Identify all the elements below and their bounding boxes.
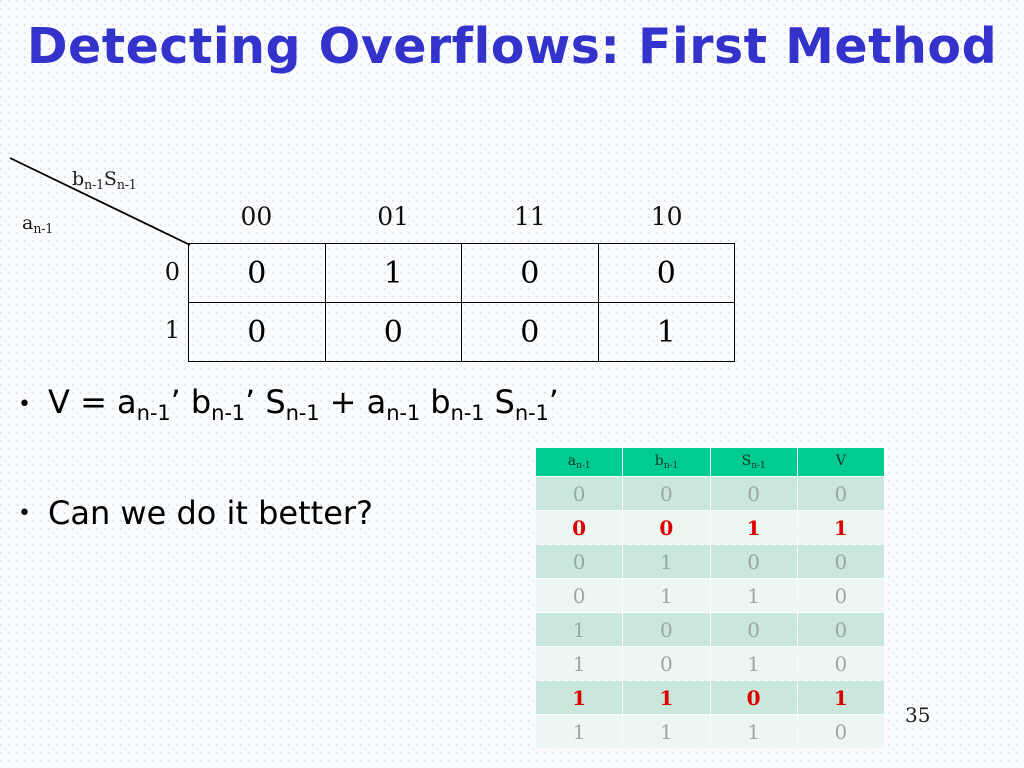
table-row: 1 1 0 1: [536, 681, 884, 714]
kmap-column-header-row: 00 01 11 10: [188, 202, 735, 231]
kmap-row-header: 0: [130, 243, 180, 301]
table-row: 0 1 0 0: [189, 244, 735, 303]
truth-table-column-header-a: an-1: [536, 448, 622, 476]
equation-lhs: V =: [48, 383, 117, 421]
kmap-cell: 0: [325, 303, 462, 362]
kmap-cell: 0: [462, 303, 599, 362]
truth-cell: 0: [798, 613, 884, 646]
truth-cell: 0: [623, 613, 709, 646]
bullet-dot-icon: •: [18, 501, 48, 526]
truth-cell: 1: [536, 613, 622, 646]
term-sub: n-1: [286, 400, 320, 425]
equation-term-3: Sn-1: [265, 383, 319, 421]
table-row: 0 0 1 1: [536, 511, 884, 544]
kmap-cell: 1: [598, 303, 735, 362]
table-row: 0 1 1 0: [536, 579, 884, 612]
equation-term-1: an-1’: [117, 383, 181, 421]
kmap-column-header: 11: [462, 202, 599, 231]
page-number: 35: [905, 703, 930, 727]
term-sub: n-1: [211, 400, 245, 425]
table-row: 1 1 1 0: [536, 715, 884, 748]
truth-cell: 1: [623, 545, 709, 578]
truth-cell: 1: [711, 715, 797, 748]
bullet-question: •Can we do it better?: [18, 492, 373, 532]
kmap-col-var-b: b: [72, 168, 84, 190]
table-row: 0 0 0 1: [189, 303, 735, 362]
truth-cell: 0: [623, 647, 709, 680]
truth-cell: 0: [536, 511, 622, 544]
column-var: a: [568, 453, 576, 469]
truth-cell: 1: [711, 647, 797, 680]
kmap-column-variable-label: bn-1Sn-1: [72, 168, 137, 192]
equation-term-4: an-1: [367, 383, 420, 421]
truth-cell: 0: [798, 477, 884, 510]
term-sub: n-1: [386, 400, 420, 425]
column-var: b: [655, 453, 664, 469]
term-sub: n-1: [451, 400, 485, 425]
page-title: Detecting Overflows: First Method: [0, 18, 1024, 75]
truth-cell: 0: [798, 545, 884, 578]
equation-term-5: bn-1: [430, 383, 484, 421]
truth-cell: 0: [536, 545, 622, 578]
truth-table-column-header-s: Sn-1: [711, 448, 797, 476]
column-sub: n-1: [576, 460, 590, 471]
truth-cell: 1: [798, 681, 884, 714]
term-var: b: [191, 383, 211, 421]
truth-cell: 1: [536, 647, 622, 680]
truth-cell: 0: [711, 477, 797, 510]
term-prime: ’: [170, 383, 180, 421]
kmap-column-header: 01: [325, 202, 462, 231]
truth-cell: 1: [711, 511, 797, 544]
equation-term-2: bn-1’: [191, 383, 255, 421]
truth-cell: 0: [623, 477, 709, 510]
kmap-row-var-a: a: [22, 212, 33, 234]
bullet-dot-icon: •: [18, 392, 48, 417]
term-var: S: [495, 383, 515, 421]
kmap-cell: 0: [598, 244, 735, 303]
truth-cell: 1: [711, 579, 797, 612]
truth-table-header-row: an-1 bn-1 Sn-1 V: [536, 448, 884, 476]
term-prime: ’: [549, 383, 559, 421]
truth-cell: 1: [798, 511, 884, 544]
kmap-grid: 0 1 0 0 0 0 0 1: [188, 243, 735, 362]
truth-cell: 1: [536, 681, 622, 714]
kmap-diagonal-divider: [0, 150, 220, 260]
truth-table-column-header-v: V: [798, 448, 884, 476]
kmap-col-var-s: S: [104, 168, 117, 190]
truth-cell: 0: [798, 647, 884, 680]
truth-table-column-header-b: bn-1: [623, 448, 709, 476]
truth-cell: 0: [623, 511, 709, 544]
truth-cell: 1: [536, 715, 622, 748]
truth-cell: 0: [536, 579, 622, 612]
equation-text: V = an-1’ bn-1’ Sn-1 + an-1 bn-1 Sn-1’: [48, 383, 559, 425]
truth-cell: 0: [711, 613, 797, 646]
truth-cell: 1: [623, 715, 709, 748]
truth-cell: 1: [623, 681, 709, 714]
kmap-column-header: 00: [188, 202, 325, 231]
term-var: b: [430, 383, 450, 421]
equation-term-6: Sn-1’: [495, 383, 559, 421]
kmap-cell: 1: [325, 244, 462, 303]
table-row: 0 0 0 0: [536, 477, 884, 510]
term-var: a: [117, 383, 137, 421]
truth-cell: 0: [711, 545, 797, 578]
term-var: S: [265, 383, 285, 421]
column-sub: n-1: [751, 460, 765, 471]
question-text: Can we do it better?: [48, 494, 373, 532]
kmap-row-header-column: 0 1: [130, 243, 180, 359]
table-row: 0 1 0 0: [536, 545, 884, 578]
term-sub: n-1: [137, 400, 171, 425]
kmap-col-var-b-sub: n-1: [84, 177, 104, 192]
equation-operator: +: [319, 383, 366, 421]
truth-cell: 0: [798, 715, 884, 748]
kmap-cell: 0: [189, 303, 326, 362]
column-sub: n-1: [664, 460, 678, 471]
table-row: 1 0 0 0: [536, 613, 884, 646]
bullet-equation: •V = an-1’ bn-1’ Sn-1 + an-1 bn-1 Sn-1’: [18, 383, 559, 425]
term-sub: n-1: [515, 400, 549, 425]
kmap-row-var-a-sub: n-1: [33, 221, 53, 236]
truth-cell: 1: [623, 579, 709, 612]
term-prime: ’: [245, 383, 255, 421]
term-var: a: [367, 383, 387, 421]
karnaugh-map: bn-1Sn-1 an-1 00 01 11 10 0 1 0 1 0 0: [0, 150, 780, 375]
column-var: S: [742, 453, 752, 469]
truth-table: an-1 bn-1 Sn-1 V 0 0 0 0 0 0 1 1 0 1: [535, 447, 885, 749]
truth-cell: 0: [711, 681, 797, 714]
truth-cell: 0: [798, 579, 884, 612]
kmap-row-variable-label: an-1: [22, 212, 53, 236]
kmap-col-var-s-sub: n-1: [117, 177, 137, 192]
truth-cell: 0: [536, 477, 622, 510]
column-var: V: [836, 453, 846, 469]
kmap-row-header: 1: [130, 301, 180, 359]
kmap-cell: 0: [189, 244, 326, 303]
table-row: 1 0 1 0: [536, 647, 884, 680]
kmap-column-header: 10: [598, 202, 735, 231]
slide-canvas: Detecting Overflows: First Method bn-1Sn…: [0, 0, 1024, 768]
kmap-cell: 0: [462, 244, 599, 303]
